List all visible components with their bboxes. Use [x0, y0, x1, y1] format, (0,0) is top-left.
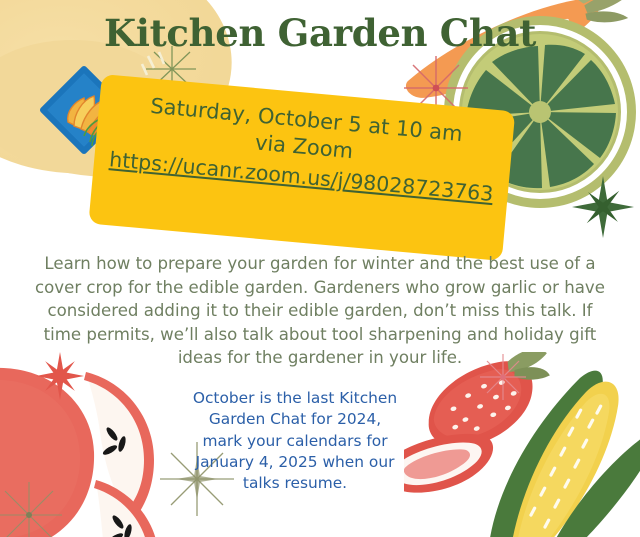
next-session-note: October is the last Kitchen Garden Chat … [180, 388, 410, 494]
sparkle-pink-icon [478, 352, 528, 407]
note-line-2: Garden Chat for 2024, [180, 409, 410, 430]
note-line-1: October is the last Kitchen [180, 388, 410, 409]
note-line-3: mark your calendars for [180, 431, 410, 452]
note-line-4: January 4, 2025 when our [180, 452, 410, 473]
sparkle-olive-small-icon [0, 480, 64, 537]
sparkle-dark-green-icon [572, 176, 634, 243]
page-title: Kitchen Garden Chat [0, 14, 640, 53]
sparkle-red-star-icon [36, 352, 84, 405]
poster-canvas: Kitchen Garden Chat Saturday, October 5 … [0, 0, 640, 537]
note-line-5: talks resume. [180, 473, 410, 494]
